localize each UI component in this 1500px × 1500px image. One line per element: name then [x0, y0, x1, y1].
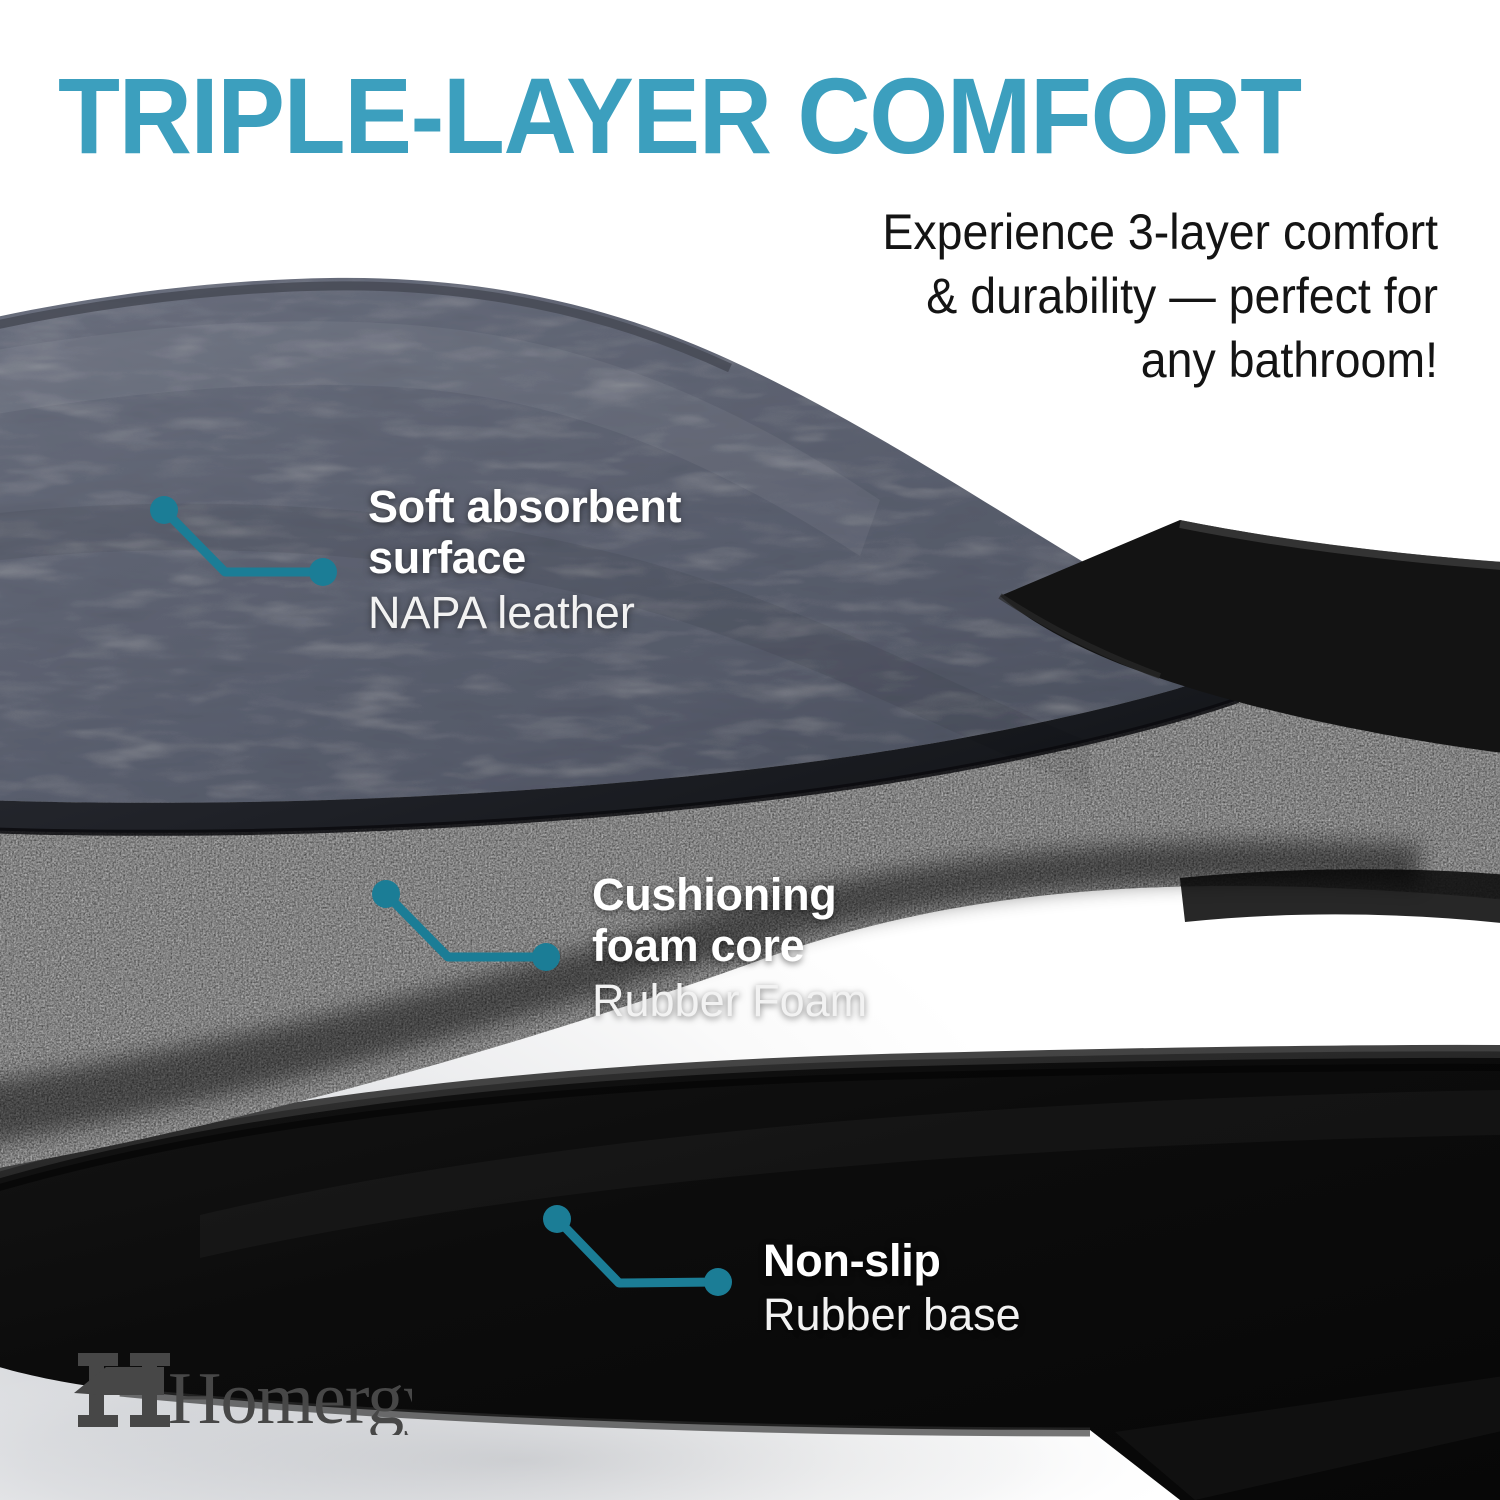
brand-wordmark: Homergy: [168, 1358, 412, 1435]
callout-3-caption: Non-slip: [763, 1235, 1021, 1286]
callout-soft-absorbent-surface: Soft absorbent surface NAPA leather: [368, 481, 681, 640]
brand-logo: Homergy: [72, 1359, 412, 1435]
callout-1-caption: Soft absorbent surface: [368, 481, 681, 584]
page-title: TRIPLE-LAYER COMFORT: [58, 62, 1374, 170]
callout-2-material: Rubber Foam: [592, 974, 867, 1029]
subtitle-line-3: any bathroom!: [713, 328, 1438, 392]
subtitle-line-2: & durability — perfect for: [713, 264, 1438, 328]
callout-1-material: NAPA leather: [368, 586, 681, 641]
subtitle-line-1: Experience 3-layer comfort: [713, 200, 1438, 264]
callout-cushioning-foam-core: Cushioning foam core Rubber Foam: [592, 869, 867, 1028]
callout-non-slip-rubber-base: Non-slip Rubber base: [763, 1235, 1021, 1343]
callout-3-material: Rubber base: [763, 1288, 1021, 1343]
homergy-logo-icon: Homergy: [72, 1349, 412, 1435]
page-subtitle: Experience 3-layer comfort & durability …: [713, 200, 1438, 392]
infographic-canvas: TRIPLE-LAYER COMFORT Experience 3-layer …: [0, 0, 1500, 1500]
callout-2-caption: Cushioning foam core: [592, 869, 867, 972]
